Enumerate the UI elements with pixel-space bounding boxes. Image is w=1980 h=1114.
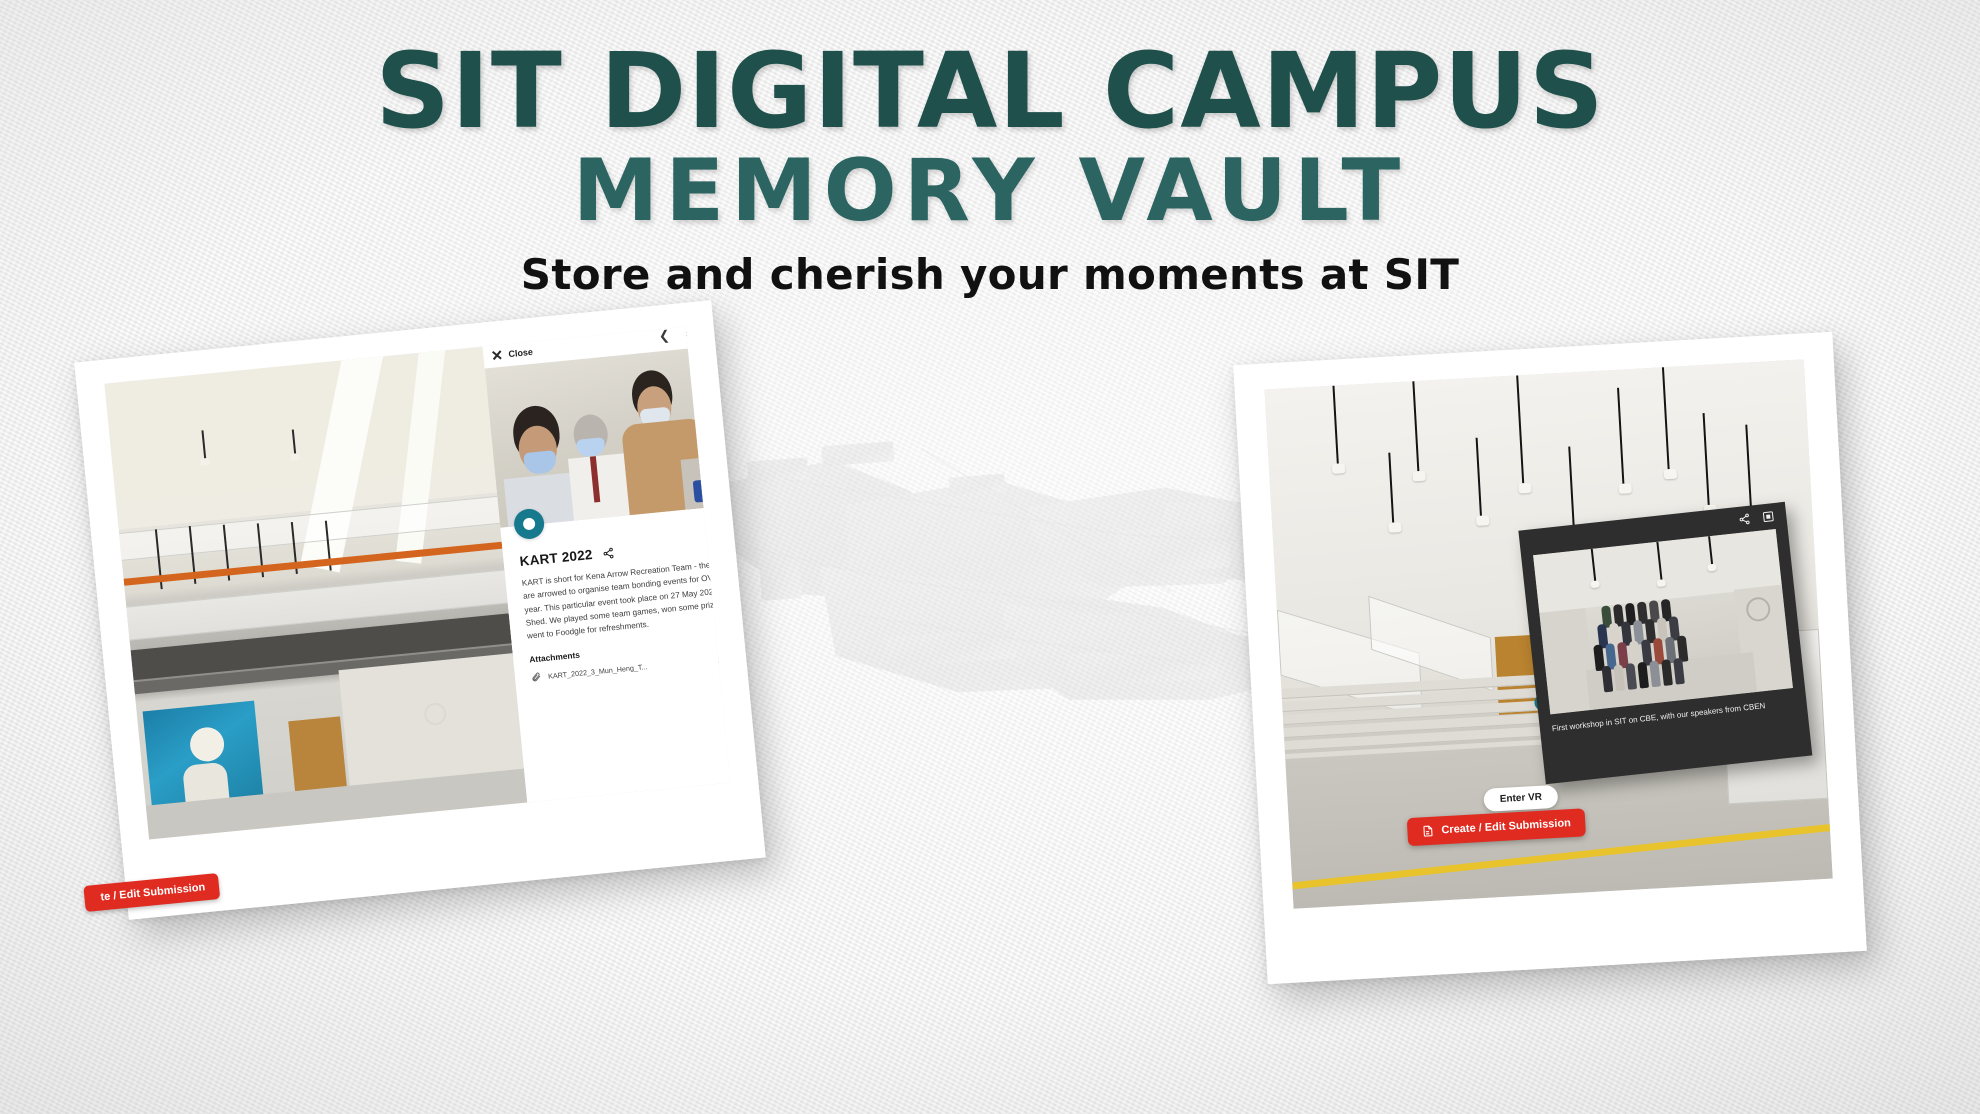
attachment-size: 12.3MB <box>717 653 730 664</box>
document-icon <box>1421 824 1435 839</box>
detail-body: KART 2022 KART is short for Kena Arrow R… <box>500 502 730 802</box>
paperclip-icon <box>531 672 542 683</box>
chevron-left-icon[interactable]: ❮ <box>658 329 670 343</box>
memory-title: KART 2022 <box>519 547 593 569</box>
share-icon[interactable] <box>1738 513 1751 526</box>
submit-button-label-right: Create / Edit Submission <box>1441 817 1571 836</box>
enter-vr-label: Enter VR <box>1500 792 1543 805</box>
slide-counter: 3 of 5 <box>685 328 708 339</box>
expand-square-icon[interactable] <box>1762 510 1775 523</box>
share-icon[interactable] <box>602 546 615 559</box>
page-subtitle: Store and cherish your moments at SIT <box>0 250 1980 299</box>
enter-vr-button[interactable]: Enter VR <box>1483 785 1558 812</box>
right-screenshot-area: First workshop in SIT on CBE, with our s… <box>1265 359 1833 908</box>
memory-photo <box>485 343 731 528</box>
memory-popup-card[interactable]: First workshop in SIT on CBE, with our s… <box>1518 502 1812 784</box>
page-title-line2: MEMORY VAULT <box>0 146 1980 236</box>
polaroid-card-right[interactable]: First workshop in SIT on CBE, with our s… <box>1233 332 1867 985</box>
group-photo <box>1533 529 1793 714</box>
submit-button-label-left: te / Edit Submission <box>100 881 206 903</box>
close-button-label: Close <box>508 346 533 358</box>
page-title-line1: SIT DIGITAL CAMPUS <box>0 38 1980 144</box>
popup-icon-row <box>1738 510 1775 526</box>
close-x-icon <box>491 349 503 361</box>
left-screenshot-area: Close ❮ 3 of 5 ❯ <box>104 327 730 840</box>
page-header: SIT DIGITAL CAMPUS MEMORY VAULT Store an… <box>0 0 1980 299</box>
memory-description: KART is short for Kena Arrow Recreation … <box>521 555 730 643</box>
hall-photo <box>104 347 527 840</box>
close-button[interactable]: Close <box>491 346 533 361</box>
memory-detail-screenshot: Close ❮ 3 of 5 ❯ <box>104 327 730 840</box>
polaroid-card-left[interactable]: Close ❮ 3 of 5 ❯ <box>74 300 766 920</box>
vr-tour-screenshot: First workshop in SIT on CBE, with our s… <box>1265 359 1833 908</box>
memory-detail-panel: Close ❮ 3 of 5 ❯ <box>483 327 731 803</box>
